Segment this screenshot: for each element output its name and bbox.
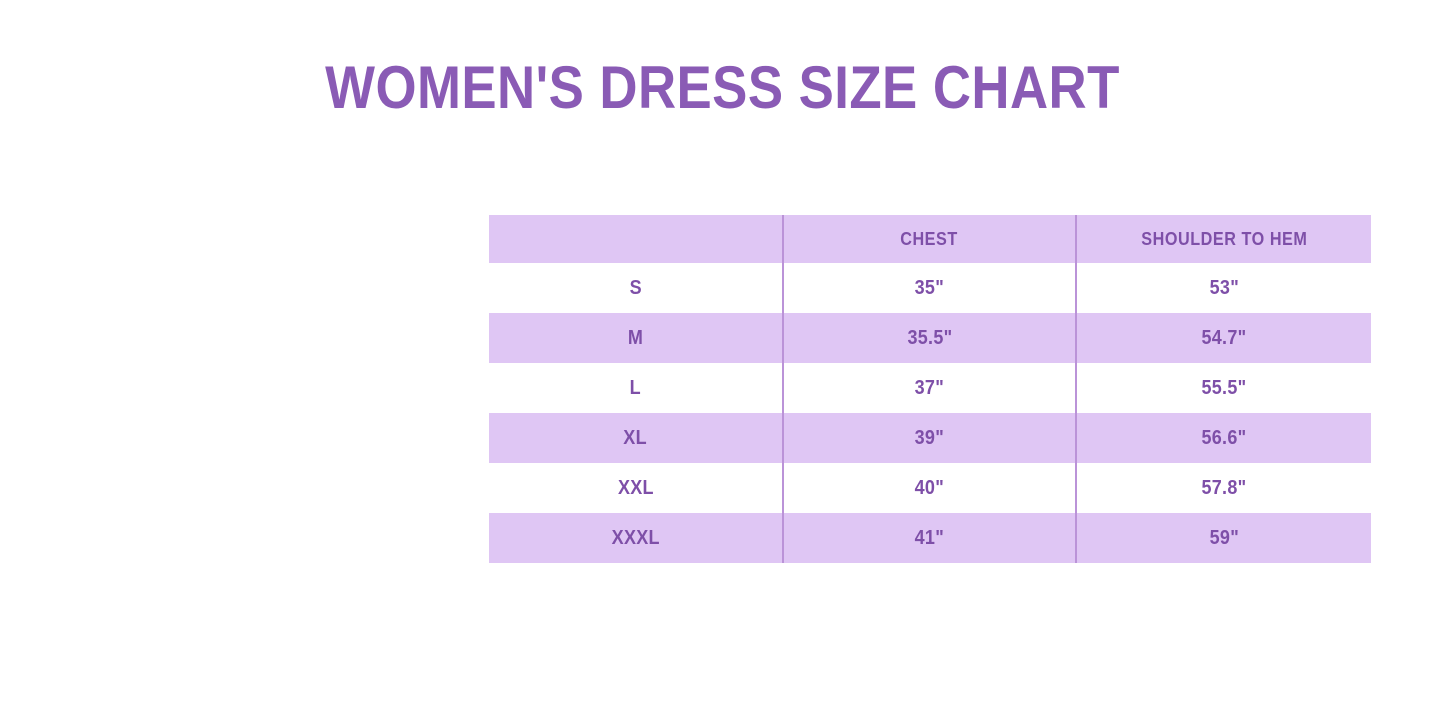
cell-size: XXXL [489,513,783,563]
table-row: XL 39" 56.6" [489,413,1371,463]
cell-shoulder-to-hem: 54.7" [1076,313,1371,363]
cell-size: M [489,313,783,363]
size-chart-table: CHEST SHOULDER TO HEM S 35" 53" [489,215,1371,563]
table-row: XXL 40" 57.8" [489,463,1371,513]
cell-chest: 35" [783,263,1076,313]
cell-size: S [489,263,783,313]
cell-shoulder-to-hem: 53" [1076,263,1371,313]
cell-chest: 41" [783,513,1076,563]
table-row: L 37" 55.5" [489,363,1371,413]
cell-chest: 35.5" [783,313,1076,363]
column-header-chest: CHEST [783,215,1076,263]
table-row: M 35.5" 54.7" [489,313,1371,363]
table-row: XXXL 41" 59" [489,513,1371,563]
table-header-row: CHEST SHOULDER TO HEM [489,215,1371,263]
table-row: S 35" 53" [489,263,1371,313]
cell-shoulder-to-hem: 57.8" [1076,463,1371,513]
column-header-shoulder-to-hem: SHOULDER TO HEM [1076,215,1371,263]
page-title: WOMEN'S DRESS SIZE CHART [87,55,1359,121]
cell-size: L [489,363,783,413]
cell-chest: 40" [783,463,1076,513]
column-header-size [489,215,783,263]
cell-chest: 39" [783,413,1076,463]
cell-shoulder-to-hem: 59" [1076,513,1371,563]
cell-shoulder-to-hem: 56.6" [1076,413,1371,463]
cell-chest: 37" [783,363,1076,413]
cell-size: XL [489,413,783,463]
size-chart-container: CHEST SHOULDER TO HEM S 35" 53" [489,215,1371,566]
cell-size: XXL [489,463,783,513]
cell-shoulder-to-hem: 55.5" [1076,363,1371,413]
